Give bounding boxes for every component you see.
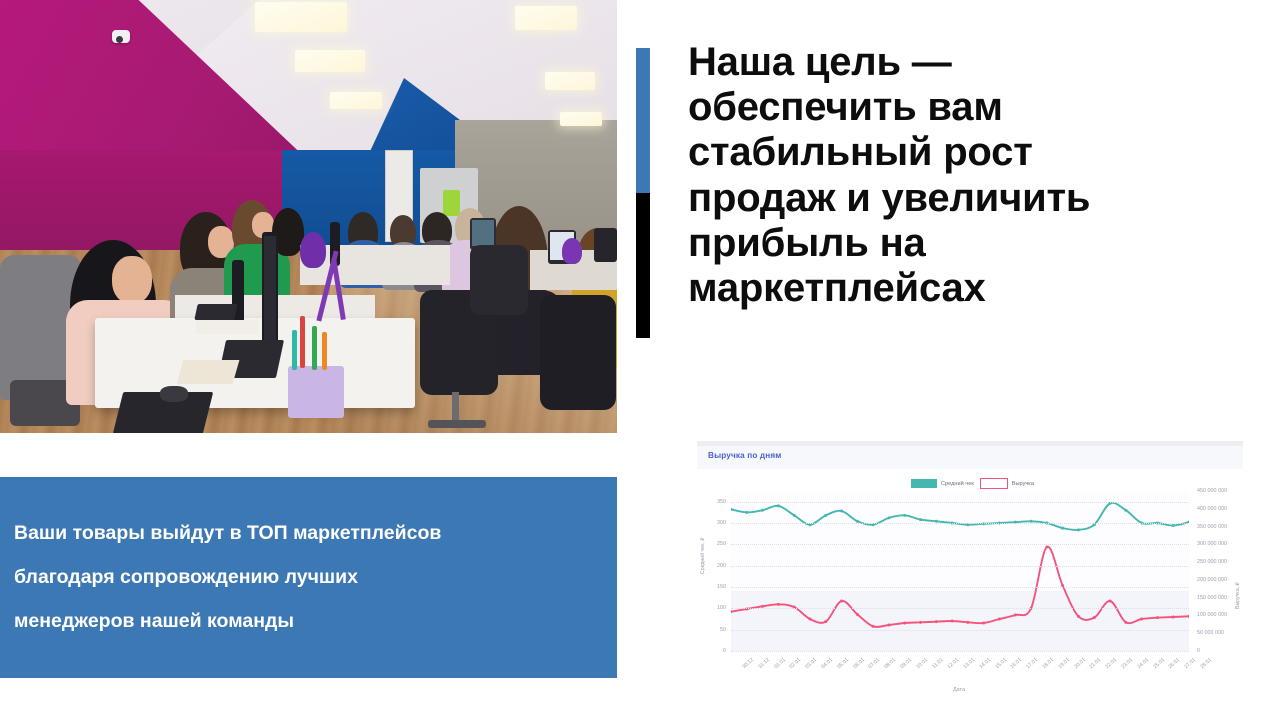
highlight-line-3: менеджеров нашей команды [14,599,604,643]
data-point[interactable] [951,620,954,623]
papers [177,360,240,384]
data-point[interactable] [1045,546,1048,549]
monitor-main-screen [264,236,276,340]
y-axis-right-tick: 0 [1197,648,1200,654]
data-point[interactable] [745,511,748,514]
series-line-average-check [731,503,1189,530]
pen-red [300,316,305,368]
y-axis-left-tick: 0 [723,648,726,654]
data-point[interactable] [824,620,827,623]
x-axis-tick: 28.01 [1199,657,1213,670]
ceiling-light-3 [330,92,382,109]
y-axis-left-tick: 300 [717,520,726,526]
data-point[interactable] [840,600,843,603]
data-point[interactable] [1077,615,1080,618]
data-point[interactable] [887,624,890,627]
data-point[interactable] [919,518,922,521]
x-axis-tick: 21.01 [1089,657,1103,670]
security-camera-lens [116,36,123,43]
data-point[interactable] [761,509,764,512]
data-point[interactable] [1124,509,1127,512]
monitor-6 [594,228,617,262]
data-point[interactable] [1077,528,1080,531]
highlight-line-2: благодаря сопровождению лучших [14,555,604,599]
x-axis-title: Дата [953,687,965,693]
data-point[interactable] [919,621,922,624]
office-chair-4 [540,295,616,410]
x-axis-tick: 18.01 [1041,657,1055,670]
legend-label-revenue: Выручка [1012,481,1034,487]
mouse [160,386,188,402]
gridline [731,544,1189,545]
y-axis-left-tick: 100 [717,605,726,611]
x-axis-labels: 30.1231.1201.0102.0103.0104.0105.0106.01… [731,655,1189,683]
x-axis-tick: 25.01 [1152,657,1166,670]
y-axis-right-tick: 400 000 000 [1197,506,1227,512]
x-axis-tick: 03.01 [805,657,819,670]
y-axis-right-tick: 350 000 000 [1197,524,1227,530]
ceiling-light-5 [545,72,595,90]
legend-swatch-average-check [911,479,937,488]
green-poster [443,190,460,216]
data-point[interactable] [1093,616,1096,619]
data-point[interactable] [824,514,827,517]
data-point[interactable] [903,514,906,517]
data-point[interactable] [808,618,811,621]
gridline [731,502,1189,503]
y-axis-right-labels: 450 000 000400 000 000350 000 000300 000… [1193,491,1249,651]
desk-lamp-head-2 [562,238,582,264]
data-point[interactable] [982,622,985,625]
data-point[interactable] [998,618,1001,621]
chart-body: Средний чек Выручка Средний чек, ₽ Выруч… [697,469,1243,699]
person-1-face [112,256,152,304]
x-axis-tick: 13.01 [962,657,976,670]
pen-green [312,326,317,370]
x-axis-tick: 31.12 [757,657,771,670]
pen-organizer [288,366,344,418]
y-axis-right-tick: 100 000 000 [1197,612,1227,618]
data-point[interactable] [887,516,890,519]
accent-bar-blue [636,48,650,193]
y-axis-left-tick: 150 [717,584,726,590]
y-axis-left-tick: 250 [717,541,726,547]
desk-lamp-head [300,232,326,268]
data-point[interactable] [777,603,780,606]
highlight-box: Ваши товары выйдут в ТОП маркетплейсов б… [0,477,617,678]
x-axis-tick: 02.01 [789,657,803,670]
data-point[interactable] [872,625,875,628]
x-axis-tick: 24.01 [1136,657,1150,670]
x-axis-tick: 15.01 [994,657,1008,670]
page-title: Наша цель — обеспечить вам стабильный ро… [688,40,1188,311]
x-axis-tick: 22.01 [1105,657,1119,670]
gridline [731,651,1189,652]
chart-legend: Средний чек Выручка [911,478,1034,489]
plot-area [731,491,1189,651]
legend-item-revenue[interactable]: Выручка [980,478,1034,489]
accent-bar-black [636,193,650,338]
ceiling-light-2 [295,50,365,72]
x-axis-tick: 27.01 [1184,657,1198,670]
x-axis-tick: 30.12 [741,657,755,670]
office-chair-2-base [428,420,486,428]
legend-swatch-revenue [980,478,1008,489]
office-photo [0,0,617,433]
data-point[interactable] [856,613,859,616]
data-point[interactable] [1061,527,1064,530]
x-axis-tick: 16.01 [1010,657,1024,670]
x-axis-tick: 05.01 [836,657,850,670]
data-point[interactable] [1172,524,1175,527]
data-point[interactable] [1140,618,1143,621]
gridline [731,587,1189,588]
highlight-line-1: Ваши товары выйдут в ТОП маркетплейсов [14,511,604,555]
ceiling-light-6 [560,112,602,126]
gridline [731,566,1189,567]
ceiling-light-1 [255,2,347,32]
y-axis-left-tick: 50 [720,627,726,633]
office-chair-3 [470,245,528,315]
chart-svg [731,491,1189,651]
highlight-box-text: Ваши товары выйдут в ТОП маркетплейсов б… [14,511,604,643]
gridline [731,630,1189,631]
x-axis-tick: 06.01 [852,657,866,670]
x-axis-tick: 11.01 [931,657,944,670]
x-axis-tick: 09.01 [899,657,913,670]
y-axis-right-tick: 250 000 000 [1197,559,1227,565]
gridline [731,608,1189,609]
data-point[interactable] [903,622,906,625]
x-axis-tick: 23.01 [1120,657,1134,670]
x-axis-tick: 12.01 [947,657,961,670]
data-point[interactable] [793,514,796,517]
gridline [731,523,1189,524]
x-axis-tick: 26.01 [1168,657,1182,670]
y-axis-right-tick: 50 000 000 [1197,630,1224,636]
accent-bars [636,48,650,338]
x-axis-tick: 01.01 [773,657,787,670]
y-axis-right-tick: 450 000 000 [1197,488,1227,494]
y-axis-left-tick: 350 [717,499,726,505]
x-axis-tick: 20.01 [1073,657,1087,670]
chart-header-bar: Выручка по дням [697,446,1243,470]
data-point[interactable] [935,620,938,623]
revenue-chart-panel: Выручка по дням Средний чек Выручка Сред… [697,441,1243,699]
monitor-4-screen [472,220,494,246]
x-axis-tick: 10.01 [915,657,929,670]
y-axis-right-tick: 300 000 000 [1197,541,1227,547]
x-axis-tick: 19.01 [1057,657,1071,670]
keyboard-far [194,304,237,320]
pen-teal [292,330,297,370]
x-axis-tick: 17.01 [1026,657,1040,670]
y-axis-left-labels: 350300250200150100500 [697,491,729,651]
data-point[interactable] [777,504,780,507]
legend-label-average-check: Средний чек [941,481,974,487]
data-point[interactable] [966,621,969,624]
x-axis-tick: 07.01 [868,657,882,670]
y-axis-right-tick: 200 000 000 [1197,577,1227,583]
pen-orange [322,332,327,370]
data-point[interactable] [840,510,843,513]
data-point[interactable] [1172,616,1175,619]
documents-far [196,320,258,334]
data-point[interactable] [1109,600,1112,603]
data-point[interactable] [1188,615,1190,618]
y-axis-left-tick: 200 [717,563,726,569]
ceiling-light-4 [515,6,577,30]
y-axis-right-tick: 150 000 000 [1197,595,1227,601]
data-point[interactable] [1156,616,1159,619]
chart-title: Выручка по дням [708,451,781,460]
legend-item-average-check[interactable]: Средний чек [911,479,974,488]
data-point[interactable] [1124,621,1127,624]
data-point[interactable] [1014,614,1017,617]
x-axis-tick: 08.01 [883,657,897,670]
x-axis-tick: 14.01 [978,657,992,670]
x-axis-tick: 04.01 [820,657,834,670]
